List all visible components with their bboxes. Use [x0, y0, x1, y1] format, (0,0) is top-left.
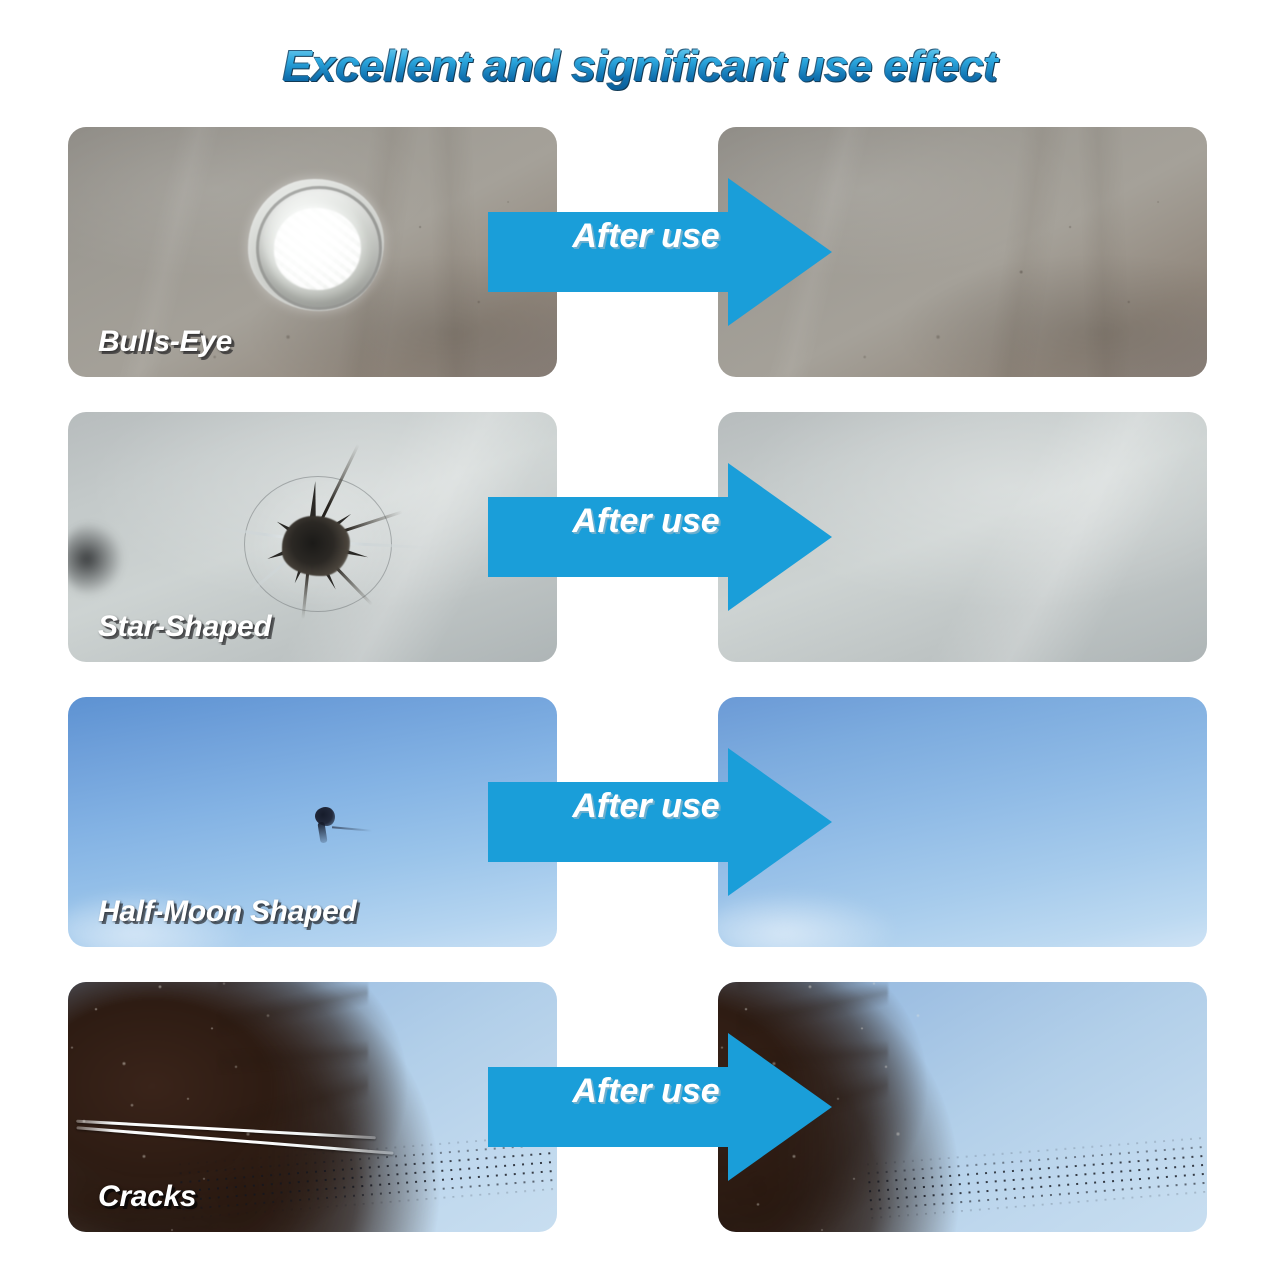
after-use-arrow-star-shaped: After use — [488, 463, 832, 611]
damage-label-cracks: Cracks — [98, 1180, 196, 1214]
chip-hairline — [332, 826, 372, 831]
comparison-row-star-shaped: Star-Shaped After use — [0, 412, 1280, 662]
before-panel-bulls-eye[interactable]: Bulls-Eye — [68, 127, 557, 377]
comparison-rows: Bulls-Eye After use — [0, 0, 1280, 1280]
half-moon-chip-damage — [312, 807, 338, 843]
damage-label-bulls-eye: Bulls-Eye — [98, 325, 232, 359]
comparison-row-half-moon: Half-Moon Shaped After use — [0, 697, 1280, 947]
right-arrow-icon — [488, 463, 832, 611]
damage-label-star-shaped: Star-Shaped — [98, 610, 271, 644]
right-arrow-icon — [488, 1033, 832, 1181]
before-panel-star-shaped[interactable]: Star-Shaped — [68, 412, 557, 662]
comparison-row-cracks: Cracks After use — [0, 982, 1280, 1232]
damage-label-half-moon: Half-Moon Shaped — [98, 895, 357, 929]
before-panel-cracks[interactable]: Cracks — [68, 982, 557, 1232]
right-arrow-icon — [488, 748, 832, 896]
after-use-arrow-half-moon: After use — [488, 748, 832, 896]
windshield-crack-damage — [76, 1128, 406, 1154]
cloud-haze — [718, 891, 898, 947]
after-use-arrow-cracks: After use — [488, 1033, 832, 1181]
crack-impact-core — [282, 516, 350, 576]
right-arrow-icon — [488, 178, 832, 326]
after-use-arrow-bulls-eye: After use — [488, 178, 832, 326]
bulls-eye-chip-damage — [248, 179, 384, 311]
before-panel-half-moon[interactable]: Half-Moon Shaped — [68, 697, 557, 947]
comparison-row-bulls-eye: Bulls-Eye After use — [0, 127, 1280, 377]
product-comparison-infographic: Excellent and significant use effect Bul… — [0, 0, 1280, 1280]
